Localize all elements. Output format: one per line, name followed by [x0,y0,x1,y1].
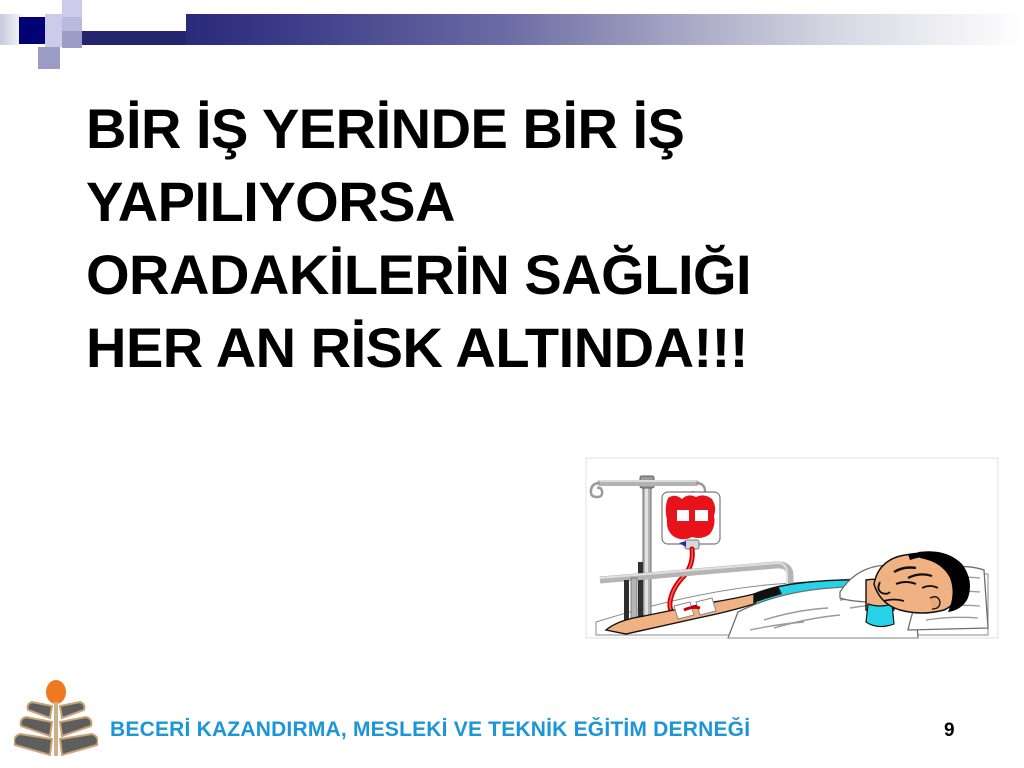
logo-leaf-l1 [28,702,53,718]
logo-seed [46,680,66,704]
slide-header-decoration [0,0,1024,80]
page-number: 9 [944,720,955,742]
header-gradient-bar [186,14,1024,45]
gown-collar [866,604,894,627]
footer-organization-name: BECERİ KAZANDIRMA, MESLEKİ VE TEKNİK EĞİ… [110,718,750,742]
header-square-navy-join [82,31,186,45]
title-line-1: BİR İŞ YERİNDE BİR İŞ [86,92,946,165]
title-line-4: HER AN RİSK ALTINDA!!! [86,311,946,384]
title-line-2: YAPILIYORSA [86,165,946,238]
header-square-navy [19,17,46,44]
logo-leaf-l2 [21,717,52,736]
header-square-mid-b [38,47,60,69]
header-square-mid-a [62,31,82,48]
page-title: BİR İŞ YERİNDE BİR İŞ YAPILIYORSA ORADAK… [86,92,946,384]
logo-leaf-r2 [60,717,91,736]
title-line-3: ORADAKİLERİN SAĞLIĞI [86,238,946,311]
blood-bag [662,492,720,549]
hospital-patient-illustration [578,452,1006,644]
logo-leaf-r3 [60,734,98,755]
header-square-pale-mid [45,14,63,32]
organization-logo-icon [14,676,98,760]
header-square-pale-low [45,31,62,47]
logo-leaf-l3 [14,734,52,755]
header-square-pale-top [62,0,82,17]
logo-leaf-r1 [60,702,85,718]
